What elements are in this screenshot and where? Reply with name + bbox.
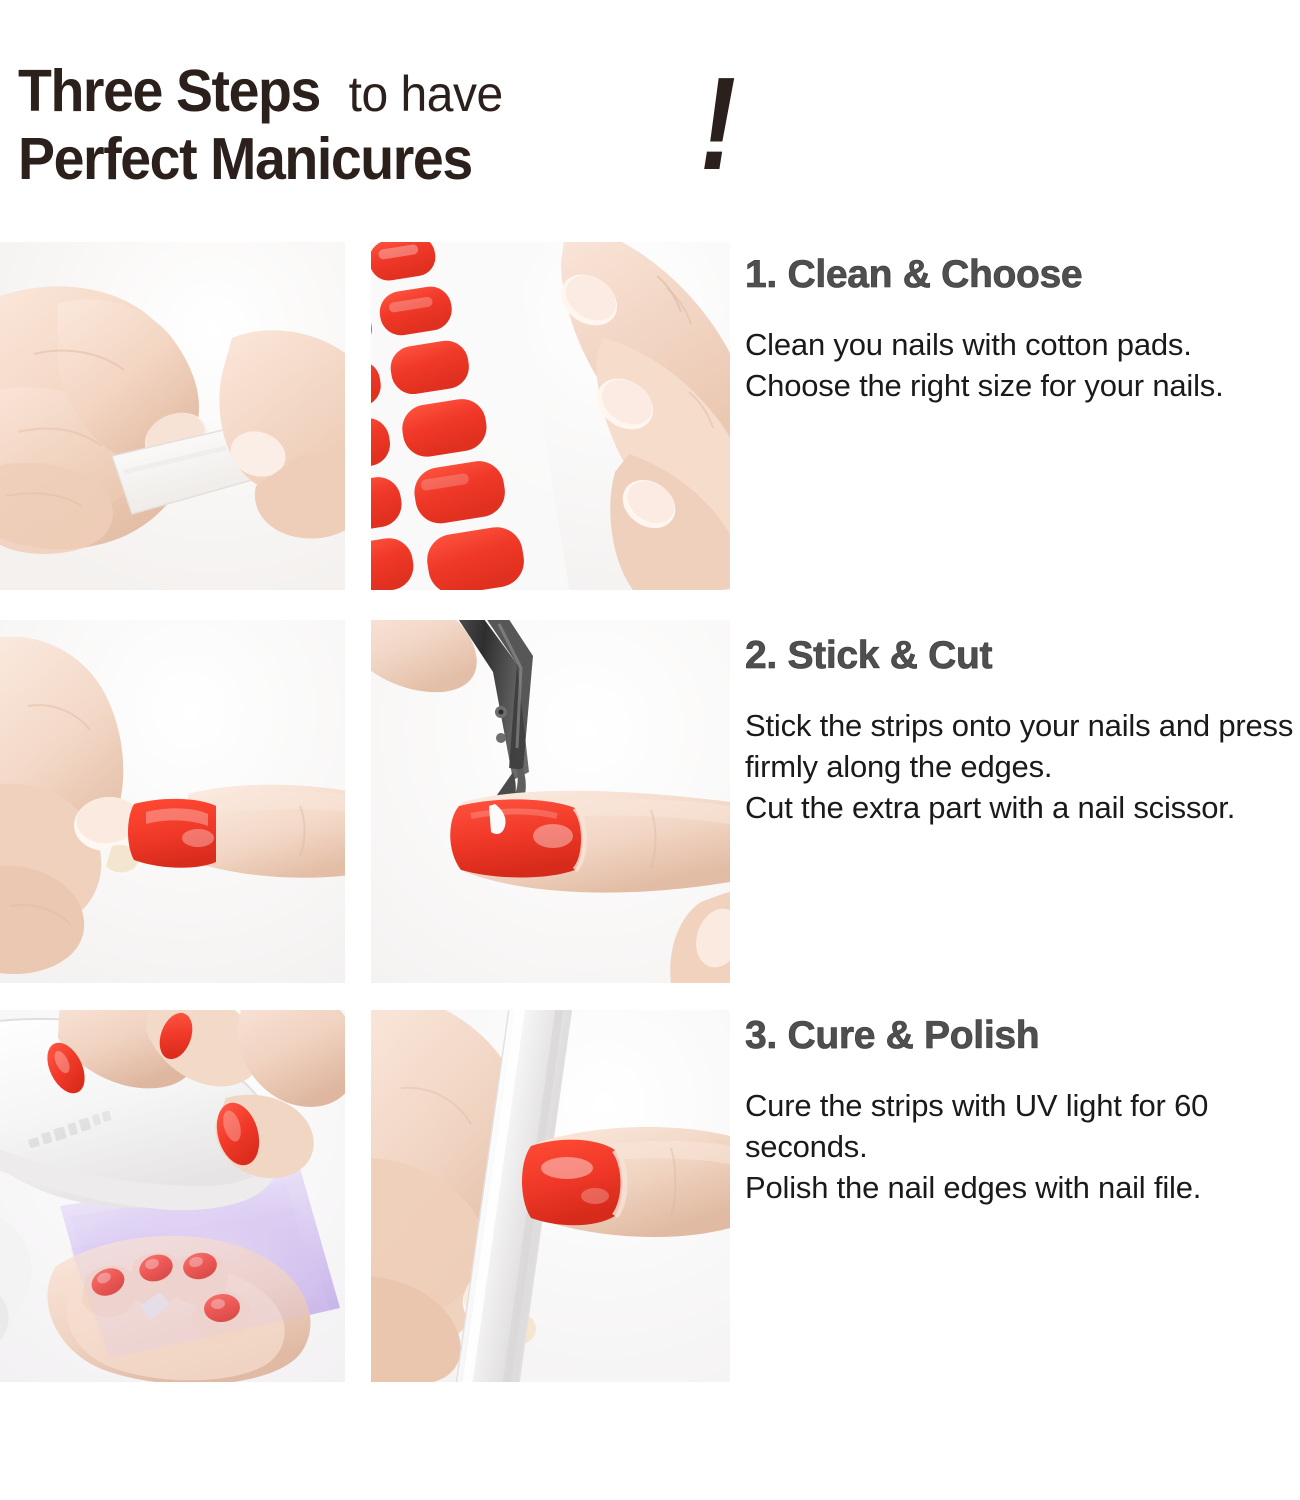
photo-polish-with-nail-file <box>371 1010 730 1382</box>
step-3: 3. Cure & Polish Cure the strips with UV… <box>745 1016 1300 1209</box>
title-line-two: Perfect Manicures <box>18 130 501 189</box>
title-light-one: to have <box>339 69 503 119</box>
photo-cut-with-nail-scissor <box>371 620 730 983</box>
exclamation-mark: ! <box>700 58 736 190</box>
title-strong-two: Perfect Manicures <box>18 130 472 189</box>
step-1-body: Clean you nails with cotton pads. Choose… <box>745 324 1300 406</box>
title-line-one: Three Stepsto have <box>18 62 510 121</box>
step-2: 2. Stick & Cut Stick the strips onto you… <box>745 636 1300 829</box>
step-1-heading: 1. Clean & Choose <box>745 255 1300 296</box>
step-2-body: Stick the strips onto your nails and pre… <box>745 705 1300 829</box>
step-3-heading: 3. Cure & Polish <box>745 1016 1300 1057</box>
step-3-body: Cure the strips with UV light for 60 sec… <box>745 1085 1300 1209</box>
photo-stick-strip-on-nail <box>0 620 345 983</box>
step-2-heading: 2. Stick & Cut <box>745 636 1300 677</box>
photo-cure-under-uv-lamp <box>0 1010 345 1382</box>
photo-nail-strips-sheet <box>371 242 730 590</box>
photo-clean-with-cotton-pad <box>0 242 345 590</box>
title-strong-one: Three Steps <box>18 62 320 121</box>
page-title: Three Stepsto have Perfect Manicures <box>18 62 798 207</box>
photo-grid <box>0 242 730 1382</box>
step-1: 1. Clean & Choose Clean you nails with c… <box>745 255 1300 406</box>
